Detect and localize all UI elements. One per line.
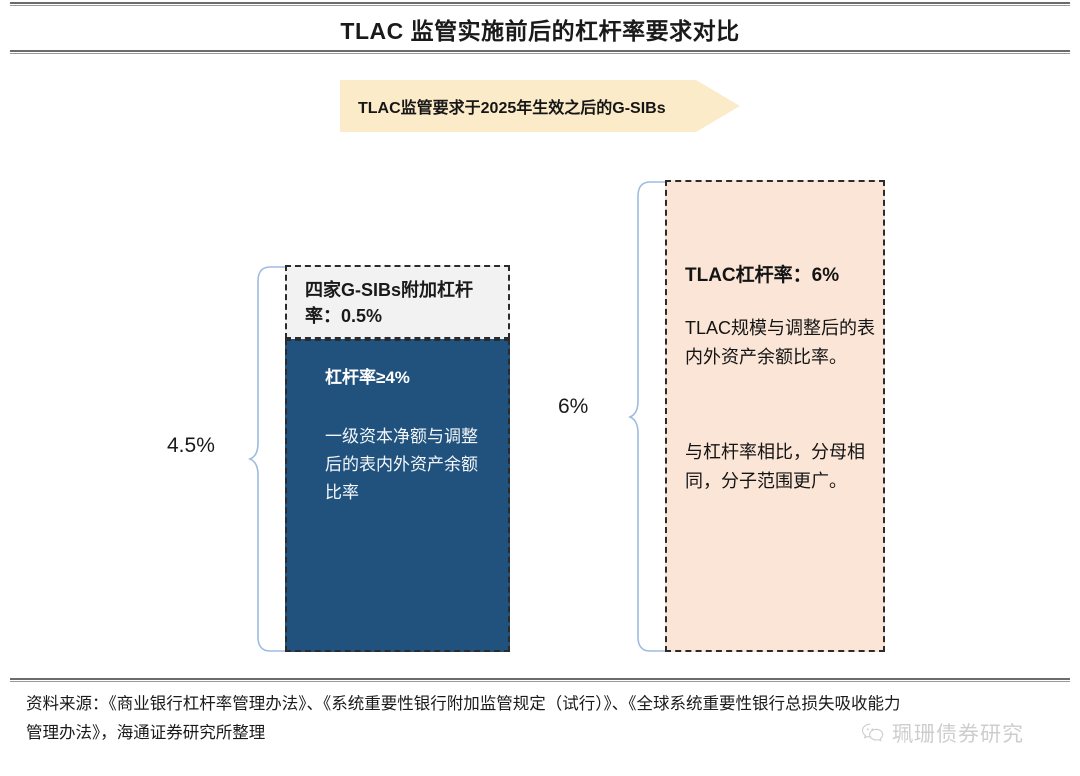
wechat-logo-icon bbox=[860, 720, 886, 746]
tlac-leverage-box: TLAC杠杆率：6% TLAC规模与调整后的表内外资产余额比率。 与杠杆率相比，… bbox=[665, 180, 885, 652]
tlac-leverage-body-first: TLAC规模与调整后的表内外资产余额比率。 bbox=[685, 314, 875, 372]
watermark-text: 珮珊债券研究 bbox=[892, 718, 1024, 748]
surcharge-leverage-box: 四家G-SIBs附加杠杆率：0.5% bbox=[285, 265, 510, 339]
source-divider-rule bbox=[10, 678, 1070, 682]
right-total-label: 6% bbox=[558, 395, 588, 419]
tlac-leverage-body-second: 与杠杆率相比，分母相同，分子范围更广。 bbox=[685, 438, 875, 496]
watermark: 珮珊债券研究 bbox=[860, 718, 1024, 748]
title-divider-rule bbox=[10, 50, 1070, 54]
base-leverage-box: 杠杆率≥4% 一级资本净额与调整后的表内外资产余额比率 bbox=[285, 339, 510, 652]
base-leverage-body: 一级资本净额与调整后的表内外资产余额比率 bbox=[325, 423, 485, 507]
banner-callout: TLAC监管要求于2025年生效之后的G-SIBs bbox=[340, 80, 740, 132]
page-title: TLAC 监管实施前后的杠杆率要求对比 bbox=[0, 12, 1080, 46]
left-brace-bracket bbox=[248, 265, 290, 653]
top-divider-rule bbox=[10, 2, 1070, 6]
banner-label: TLAC监管要求于2025年生效之后的G-SIBs bbox=[340, 94, 666, 118]
tlac-leverage-heading: TLAC杠杆率：6% bbox=[685, 260, 839, 287]
diagram-canvas: TLAC 监管实施前后的杠杆率要求对比 TLAC监管要求于2025年生效之后的G… bbox=[0, 0, 1080, 776]
right-brace-bracket bbox=[628, 180, 670, 653]
left-total-label: 4.5% bbox=[167, 434, 215, 458]
surcharge-leverage-text: 四家G-SIBs附加杠杆率：0.5% bbox=[305, 277, 498, 329]
base-leverage-heading: 杠杆率≥4% bbox=[325, 363, 410, 388]
left-column-stack: 四家G-SIBs附加杠杆率：0.5% 杠杆率≥4% 一级资本净额与调整后的表内外… bbox=[285, 265, 510, 652]
source-note: 资料来源：《商业银行杠杆率管理办法》、《系统重要性银行附加监管规定（试行）》、《… bbox=[26, 690, 906, 748]
